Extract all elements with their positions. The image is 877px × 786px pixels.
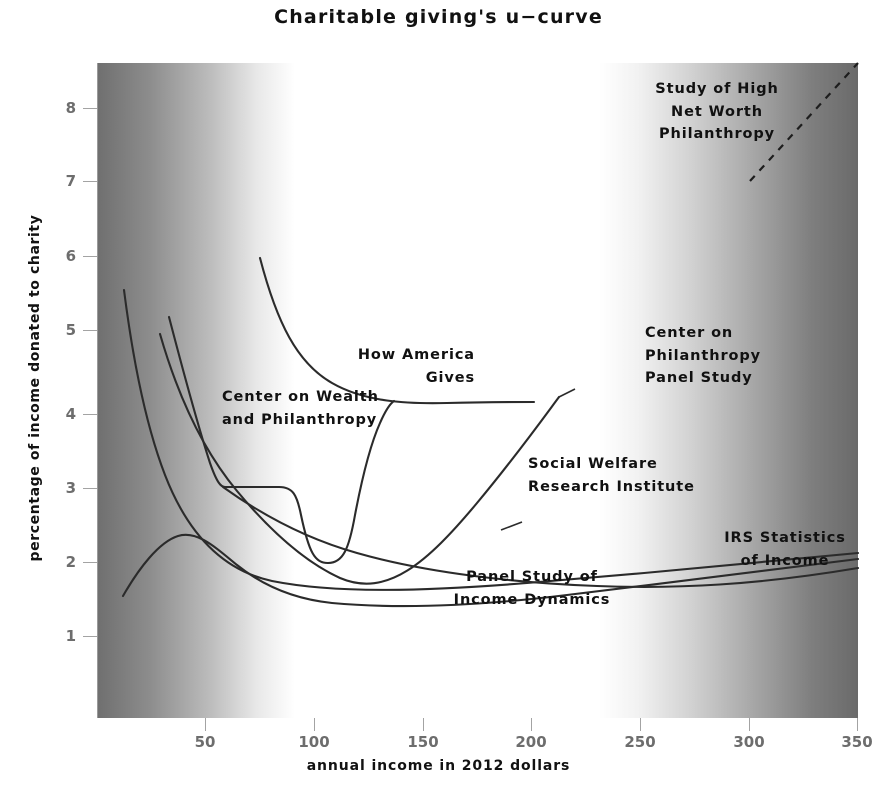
x-tick-label-50: 50 <box>175 733 235 751</box>
y-tick-mark-2 <box>83 562 97 563</box>
series-lines <box>97 63 858 718</box>
series-label-center-philanthropy-panel: Center on Philanthropy Panel Study <box>645 322 845 390</box>
x-axis-title: annual income in 2012 dollars <box>0 758 877 774</box>
x-tick-label-350: 350 <box>827 733 877 751</box>
leader-line-center-philanthropy-panel <box>559 389 575 397</box>
y-tick-mark-8 <box>83 108 97 109</box>
x-tick-mark-200 <box>531 718 532 731</box>
series-label-center-wealth-philanthropy: Center on Wealth and Philanthropy <box>222 386 442 431</box>
y-tick-label-3: 3 <box>42 479 76 497</box>
x-tick-label-250: 250 <box>610 733 670 751</box>
x-tick-label-100: 100 <box>284 733 344 751</box>
y-tick-mark-4 <box>83 414 97 415</box>
y-tick-label-6: 6 <box>42 247 76 265</box>
chart-figure: Charitable giving's u−curve percentage o… <box>0 0 877 786</box>
y-tick-label-4: 4 <box>42 405 76 423</box>
x-tick-mark-50 <box>205 718 206 731</box>
y-tick-label-8: 8 <box>42 99 76 117</box>
y-tick-label-1: 1 <box>42 627 76 645</box>
x-tick-mark-150 <box>423 718 424 731</box>
y-tick-mark-7 <box>83 181 97 182</box>
x-tick-mark-350 <box>857 718 858 731</box>
x-tick-mark-300 <box>749 718 750 731</box>
x-tick-mark-250 <box>640 718 641 731</box>
x-tick-label-150: 150 <box>393 733 453 751</box>
y-tick-mark-6 <box>83 256 97 257</box>
series-label-panel-study-income-dynamics: Panel Study of Income Dynamics <box>442 566 622 611</box>
series-label-social-welfare: Social Welfare Research Institute <box>528 453 768 498</box>
y-tick-mark-5 <box>83 330 97 331</box>
y-tick-label-7: 7 <box>42 172 76 190</box>
y-axis-title: percentage of income donated to charity <box>27 148 43 628</box>
x-tick-label-300: 300 <box>719 733 779 751</box>
page-title: Charitable giving's u−curve <box>0 6 877 28</box>
series-label-how-america-gives: How America Gives <box>285 344 475 389</box>
plot-area <box>97 63 858 718</box>
series-label-study-high-net-worth: Study of High Net Worth Philanthropy <box>627 78 807 146</box>
y-tick-label-5: 5 <box>42 321 76 339</box>
y-tick-mark-1 <box>83 636 97 637</box>
y-tick-mark-3 <box>83 488 97 489</box>
x-tick-mark-100 <box>314 718 315 731</box>
y-tick-label-2: 2 <box>42 553 76 571</box>
leader-line-social-welfare <box>501 522 522 530</box>
x-tick-label-200: 200 <box>501 733 561 751</box>
series-label-irs-statistics: IRS Statistics of Income <box>710 527 860 572</box>
